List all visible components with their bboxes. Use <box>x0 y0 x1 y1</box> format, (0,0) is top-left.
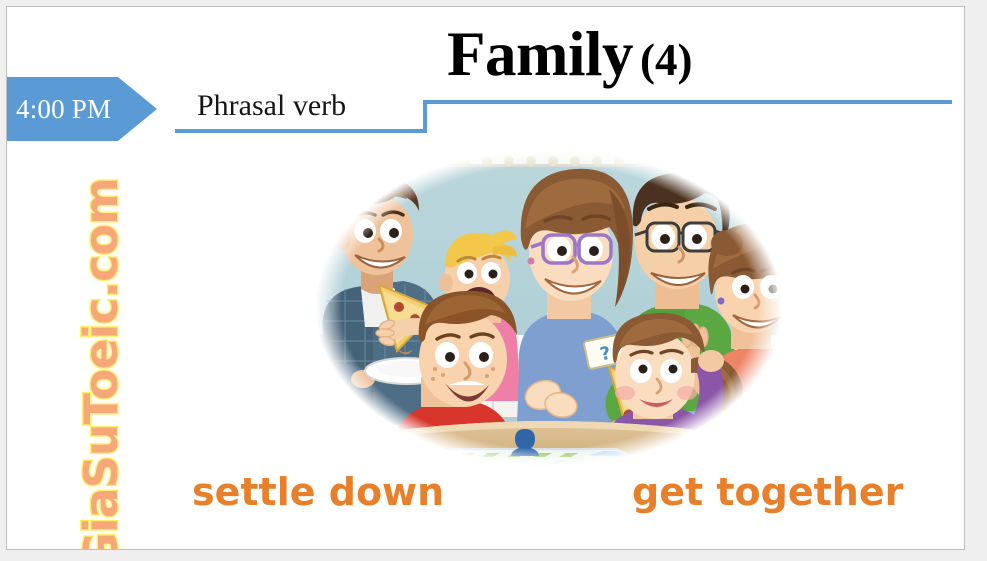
family-illustration: ? <box>303 143 795 471</box>
rule-riser <box>423 100 427 133</box>
phrasal-verb-answer-2: get together <box>632 473 903 511</box>
category-label: Phrasal verb <box>197 91 346 121</box>
time-badge-label: 4:00 PM <box>7 96 111 123</box>
rule-under-title <box>423 100 952 104</box>
site-watermark: GiaSuToeic.com <box>70 179 132 550</box>
page-background: 4:00 PM Phrasal verb Family(4) GiaSuToei… <box>0 0 987 561</box>
page-title: Family(4) <box>447 23 692 86</box>
rule-under-category <box>175 129 427 133</box>
slide-canvas: 4:00 PM Phrasal verb Family(4) GiaSuToei… <box>6 6 965 550</box>
page-title-main: Family <box>447 19 633 89</box>
phrasal-verb-answer-1: settle down <box>192 473 444 511</box>
time-badge-arrow: 4:00 PM <box>7 77 157 141</box>
site-watermark-label: GiaSuToeic.com <box>78 178 124 550</box>
page-title-count: (4) <box>640 35 692 85</box>
